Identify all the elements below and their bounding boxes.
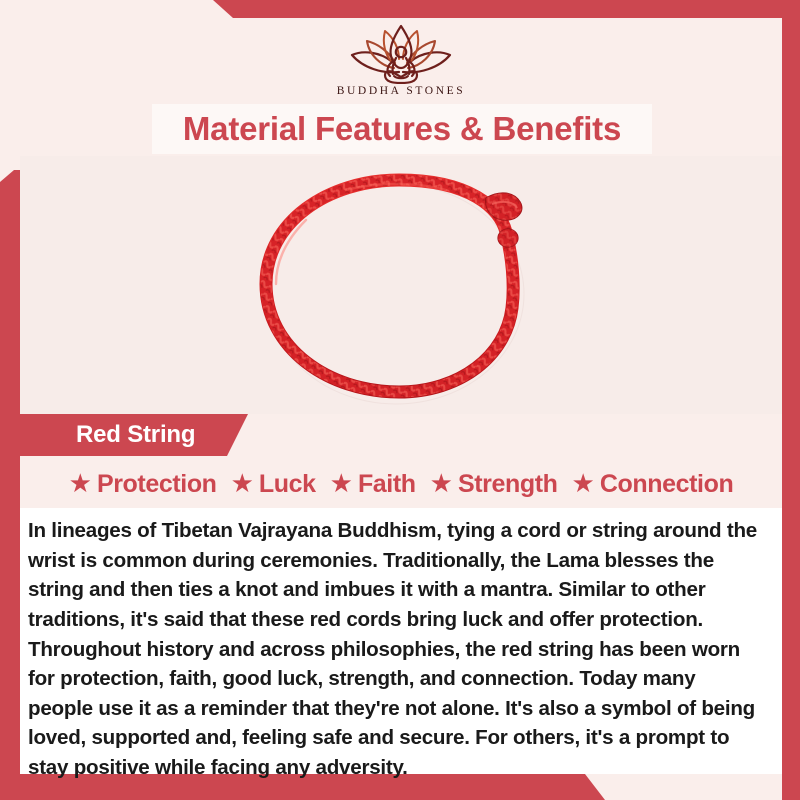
description-block: In lineages of Tibetan Vajrayana Buddhis… bbox=[20, 508, 782, 774]
benefits-row: ★ Protection ★ Luck ★ Faith ★ Strength ★… bbox=[20, 462, 782, 506]
product-label-text: Red String bbox=[20, 421, 195, 449]
benefit-protection: ★ Protection bbox=[64, 470, 222, 499]
title-banner: Material Features & Benefits bbox=[152, 104, 652, 154]
product-label-ribbon: Red String bbox=[20, 414, 248, 456]
decorative-left-red-bar bbox=[0, 170, 20, 800]
benefit-connection: ★ Connection bbox=[567, 470, 739, 499]
star-icon: ★ bbox=[69, 470, 92, 496]
benefit-label: Connection bbox=[600, 470, 734, 499]
benefit-strength: ★ Strength bbox=[425, 470, 563, 499]
product-photo bbox=[20, 156, 782, 414]
benefit-faith: ★ Faith bbox=[325, 470, 421, 499]
brand-header: BUDDHA STONES bbox=[20, 18, 782, 100]
benefit-label: Faith bbox=[358, 470, 416, 499]
brand-logo: BUDDHA STONES bbox=[337, 22, 465, 97]
page-title: Material Features & Benefits bbox=[183, 110, 621, 148]
benefit-label: Luck bbox=[259, 470, 316, 499]
benefit-luck: ★ Luck bbox=[226, 470, 321, 499]
benefit-label: Protection bbox=[97, 470, 217, 499]
star-icon: ★ bbox=[330, 470, 353, 496]
decorative-top-red-bar bbox=[0, 0, 800, 18]
star-icon: ★ bbox=[572, 470, 595, 496]
star-icon: ★ bbox=[430, 470, 453, 496]
benefit-label: Strength bbox=[458, 470, 558, 499]
red-string-bracelet-image bbox=[236, 160, 566, 410]
decorative-right-red-bar bbox=[782, 18, 800, 800]
infographic-page: BUDDHA STONES Material Features & Benefi… bbox=[0, 0, 800, 800]
brand-wordmark: BUDDHA STONES bbox=[337, 85, 465, 97]
star-icon: ★ bbox=[231, 470, 254, 496]
lotus-meditation-icon bbox=[337, 22, 465, 84]
description-text: In lineages of Tibetan Vajrayana Buddhis… bbox=[28, 516, 762, 783]
